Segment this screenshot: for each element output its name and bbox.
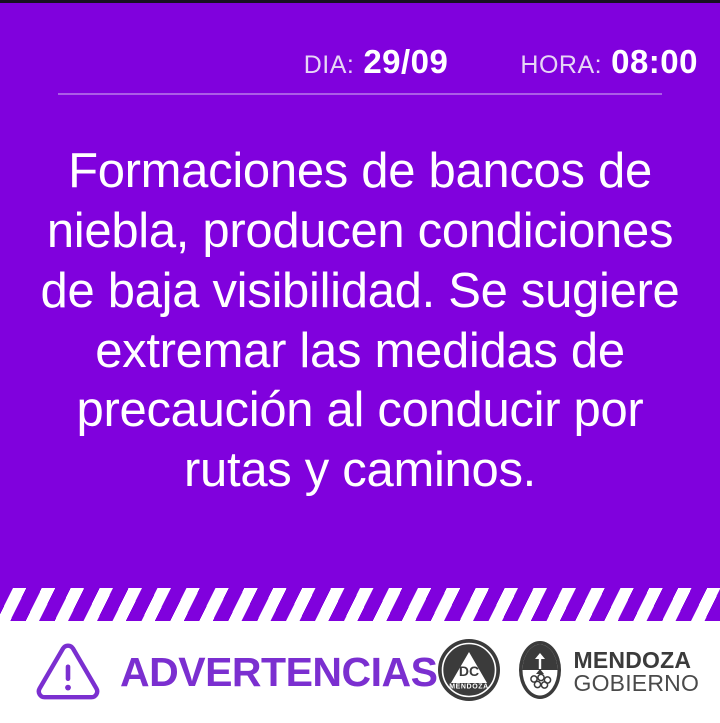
- brand-line-mendoza: MENDOZA: [573, 649, 699, 672]
- svg-text:MENDOZA: MENDOZA: [450, 683, 490, 690]
- time-group: HORA: 08:00: [520, 43, 698, 81]
- footer-title: ADVERTENCIAS: [120, 652, 437, 693]
- weather-alert-poster: DIA: 29/09 HORA: 08:00 Formaciones de ba…: [0, 0, 720, 723]
- alert-message: Formaciones de bancos de niebla, produce…: [28, 142, 693, 501]
- hazard-stripe-band: [0, 588, 720, 621]
- date-label: DIA:: [304, 51, 355, 80]
- time-label: HORA:: [520, 51, 602, 80]
- footer: ADVERTENCIAS DC MENDOZA: [0, 621, 720, 723]
- alert-panel: DIA: 29/09 HORA: 08:00 Formaciones de ba…: [0, 3, 720, 588]
- date-value: 29/09: [363, 43, 448, 81]
- header-divider: [58, 93, 662, 95]
- civil-defense-badge-icon: DC MENDOZA: [437, 638, 501, 707]
- date-group: DIA: 29/09: [304, 43, 449, 81]
- footer-brand-right: DC MENDOZA: [437, 638, 699, 707]
- footer-brand-left: ADVERTENCIAS: [36, 643, 437, 701]
- alert-header: DIA: 29/09 HORA: 08:00: [0, 3, 720, 81]
- svg-text:DC: DC: [459, 663, 479, 679]
- alert-body: Formaciones de bancos de niebla, produce…: [0, 95, 720, 588]
- government-brand-text: MENDOZA GOBIERNO: [573, 649, 699, 696]
- brand-line-gobierno: GOBIERNO: [573, 672, 699, 695]
- mendoza-crest-icon: [517, 639, 563, 706]
- government-brand-lockup: MENDOZA GOBIERNO: [517, 639, 699, 706]
- time-value: 08:00: [611, 43, 698, 81]
- warning-triangle-icon: [36, 643, 100, 701]
